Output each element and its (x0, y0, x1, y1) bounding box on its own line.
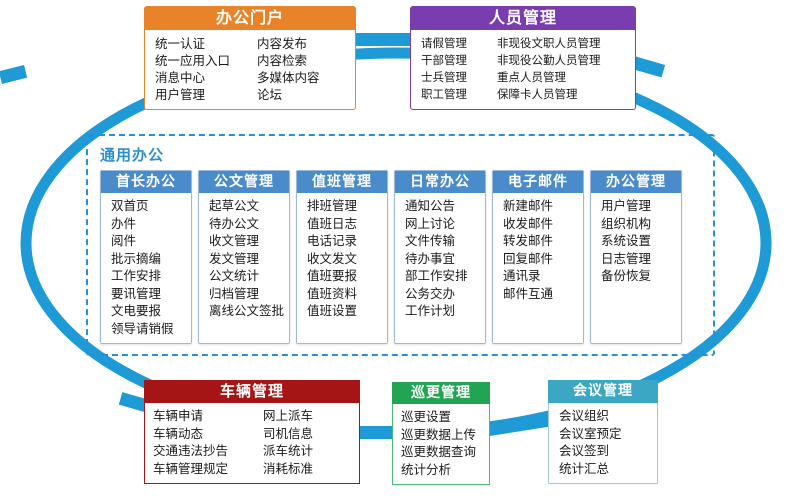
list-item[interactable]: 会议组织 (559, 407, 657, 425)
list-item[interactable]: 论坛 (257, 86, 320, 103)
connector-portal-to-personnel (348, 33, 414, 46)
card-meeting-management[interactable]: 会议管理 会议组织 会议室预定 会议签到 统计汇总 (548, 380, 658, 484)
list-item[interactable]: 值班资料 (307, 285, 387, 303)
list-item[interactable]: 重点人员管理 (497, 69, 601, 86)
list-item[interactable]: 收发邮件 (503, 215, 583, 233)
list-item[interactable]: 系统设置 (601, 232, 681, 250)
list-item[interactable]: 职工管理 (421, 86, 497, 103)
list-item[interactable]: 请假管理 (421, 35, 497, 52)
card-vehicle-management-body: 车辆申请 车辆动态 交通违法抄告 车辆管理规定 网上派车 司机信息 派车统计 消… (144, 403, 360, 484)
meeting-list: 会议组织 会议室预定 会议签到 统计汇总 (559, 407, 657, 477)
list-item[interactable]: 用户管理 (601, 197, 681, 215)
office-management-list: 用户管理 组织机构 系统设置 日志管理 备份恢复 (601, 197, 681, 285)
list-item[interactable]: 回复邮件 (503, 250, 583, 268)
patrol-list: 巡更设置 巡更数据上传 巡更数据查询 统计分析 (401, 408, 489, 478)
list-item[interactable]: 车辆申请 (153, 407, 263, 425)
card-office-portal[interactable]: 办公门户 统一认证 统一应用入口 消息中心 用户管理 内容发布 内容检索 多媒体… (144, 6, 356, 110)
list-item[interactable]: 会议室预定 (559, 425, 657, 443)
personnel-column-2: 非现役文职人员管理 非现役公勤人员管理 重点人员管理 保障卡人员管理 (497, 35, 601, 103)
list-item[interactable]: 内容发布 (257, 35, 320, 52)
card-office-portal-title: 办公门户 (144, 6, 356, 30)
list-item[interactable]: 巡更数据查询 (401, 443, 489, 461)
list-item[interactable]: 用户管理 (155, 86, 257, 103)
card-vehicle-management-title: 车辆管理 (144, 380, 360, 403)
card-office-management-body: 用户管理 组织机构 系统设置 日志管理 备份恢复 (591, 193, 681, 343)
list-item[interactable]: 阅件 (111, 232, 191, 250)
list-item[interactable]: 统一应用入口 (155, 52, 257, 69)
list-item[interactable]: 内容检索 (257, 52, 320, 69)
list-item[interactable]: 会议签到 (559, 442, 657, 460)
list-item[interactable]: 要讯管理 (111, 285, 191, 303)
list-item[interactable]: 起草公文 (209, 197, 289, 215)
list-item[interactable]: 士兵管理 (421, 69, 497, 86)
card-daily-office-body: 通知公告 网上讨论 文件传输 待办事宜 部工作安排 公务交办 工作计划 (395, 193, 485, 343)
card-office-portal-body: 统一认证 统一应用入口 消息中心 用户管理 内容发布 内容检索 多媒体内容 论坛 (144, 30, 356, 110)
list-item[interactable]: 车辆动态 (153, 425, 263, 443)
card-daily-office[interactable]: 日常办公 通知公告 网上讨论 文件传输 待办事宜 部工作安排 公务交办 工作计划 (394, 170, 486, 344)
list-item[interactable]: 日志管理 (601, 250, 681, 268)
general-office-label: 通用办公 (100, 144, 164, 165)
list-item[interactable]: 备份恢复 (601, 267, 681, 285)
card-daily-office-title: 日常办公 (395, 171, 485, 193)
list-item[interactable]: 工作计划 (405, 302, 485, 320)
list-item[interactable]: 统计汇总 (559, 460, 657, 478)
personnel-column-1: 请假管理 干部管理 士兵管理 职工管理 (421, 35, 497, 103)
list-item[interactable]: 组织机构 (601, 215, 681, 233)
list-item[interactable]: 批示摘编 (111, 250, 191, 268)
card-chief-office-body: 双首页 办件 阅件 批示摘编 工作安排 要讯管理 文电要报 领导请销假 (101, 193, 191, 343)
list-item[interactable]: 发文管理 (209, 250, 289, 268)
list-item[interactable]: 网上派车 (263, 407, 313, 425)
list-item[interactable]: 消耗标准 (263, 460, 313, 478)
list-item[interactable]: 收文管理 (209, 232, 289, 250)
card-duty-management-title: 值班管理 (297, 171, 387, 193)
list-item[interactable]: 派车统计 (263, 442, 313, 460)
list-item[interactable]: 车辆管理规定 (153, 460, 263, 478)
list-item[interactable]: 干部管理 (421, 52, 497, 69)
list-item[interactable]: 值班设置 (307, 302, 387, 320)
card-meeting-management-title: 会议管理 (548, 380, 658, 403)
list-item[interactable]: 文件传输 (405, 232, 485, 250)
card-duty-management-body: 排班管理 值班日志 电话记录 收文发文 值班要报 值班资料 值班设置 (297, 193, 387, 343)
card-patrol-management-body: 巡更设置 巡更数据上传 巡更数据查询 统计分析 (392, 404, 490, 485)
list-item[interactable]: 文电要报 (111, 302, 191, 320)
list-item[interactable]: 保障卡人员管理 (497, 86, 601, 103)
card-email-body: 新建邮件 收发邮件 转发邮件 回复邮件 通讯录 邮件互通 (493, 193, 583, 343)
card-vehicle-management[interactable]: 车辆管理 车辆申请 车辆动态 交通违法抄告 车辆管理规定 网上派车 司机信息 派… (144, 380, 360, 484)
list-item[interactable]: 统一认证 (155, 35, 257, 52)
list-item[interactable]: 公文统计 (209, 267, 289, 285)
list-item[interactable]: 巡更数据上传 (401, 426, 489, 444)
card-document-management[interactable]: 公文管理 起草公文 待办公文 收文管理 发文管理 公文统计 归档管理 离线公文签… (198, 170, 290, 344)
list-item[interactable]: 非现役文职人员管理 (497, 35, 601, 52)
list-item[interactable]: 通讯录 (503, 267, 583, 285)
card-personnel-management[interactable]: 人员管理 请假管理 干部管理 士兵管理 职工管理 非现役文职人员管理 非现役公勤… (410, 6, 636, 110)
card-email[interactable]: 电子邮件 新建邮件 收发邮件 转发邮件 回复邮件 通讯录 邮件互通 (492, 170, 584, 344)
card-office-management[interactable]: 办公管理 用户管理 组织机构 系统设置 日志管理 备份恢复 (590, 170, 682, 344)
document-management-list: 起草公文 待办公文 收文管理 发文管理 公文统计 归档管理 离线公文签批 (209, 197, 289, 320)
list-item[interactable]: 排班管理 (307, 197, 387, 215)
list-item[interactable]: 非现役公勤人员管理 (497, 52, 601, 69)
list-item[interactable]: 通知公告 (405, 197, 485, 215)
card-patrol-management[interactable]: 巡更管理 巡更设置 巡更数据上传 巡更数据查询 统计分析 (392, 382, 490, 485)
chief-office-list: 双首页 办件 阅件 批示摘编 工作安排 要讯管理 文电要报 领导请销假 (111, 197, 191, 337)
list-item[interactable]: 统计分析 (401, 461, 489, 479)
daily-office-list: 通知公告 网上讨论 文件传输 待办事宜 部工作安排 公务交办 工作计划 (405, 197, 485, 320)
card-personnel-management-body: 请假管理 干部管理 士兵管理 职工管理 非现役文职人员管理 非现役公勤人员管理 … (410, 30, 636, 110)
list-item[interactable]: 交通违法抄告 (153, 442, 263, 460)
diagram-canvas: 办公门户 统一认证 统一应用入口 消息中心 用户管理 内容发布 内容检索 多媒体… (0, 0, 790, 500)
card-email-title: 电子邮件 (493, 171, 583, 193)
card-personnel-management-title: 人员管理 (410, 6, 636, 30)
office-portal-column-1: 统一认证 统一应用入口 消息中心 用户管理 (155, 35, 257, 103)
list-item[interactable]: 新建邮件 (503, 197, 583, 215)
card-chief-office[interactable]: 首长办公 双首页 办件 阅件 批示摘编 工作安排 要讯管理 文电要报 领导请销假 (100, 170, 192, 344)
list-item[interactable]: 邮件互通 (503, 285, 583, 303)
card-duty-management[interactable]: 值班管理 排班管理 值班日志 电话记录 收文发文 值班要报 值班资料 值班设置 (296, 170, 388, 344)
list-item[interactable]: 离线公文签批 (209, 302, 289, 320)
list-item[interactable]: 值班要报 (307, 267, 387, 285)
card-office-management-title: 办公管理 (591, 171, 681, 193)
card-chief-office-title: 首长办公 (101, 171, 191, 193)
list-item[interactable]: 司机信息 (263, 425, 313, 443)
list-item[interactable]: 巡更设置 (401, 408, 489, 426)
list-item[interactable]: 值班日志 (307, 215, 387, 233)
list-item[interactable]: 办件 (111, 215, 191, 233)
list-item[interactable]: 公务交办 (405, 285, 485, 303)
office-portal-column-2: 内容发布 内容检索 多媒体内容 论坛 (257, 35, 320, 103)
card-patrol-management-title: 巡更管理 (392, 382, 490, 404)
list-item[interactable]: 双首页 (111, 197, 191, 215)
list-item[interactable]: 网上讨论 (405, 215, 485, 233)
list-item[interactable]: 转发邮件 (503, 232, 583, 250)
list-item[interactable]: 部工作安排 (405, 267, 485, 285)
card-document-management-body: 起草公文 待办公文 收文管理 发文管理 公文统计 归档管理 离线公文签批 (199, 193, 289, 343)
card-document-management-title: 公文管理 (199, 171, 289, 193)
email-list: 新建邮件 收发邮件 转发邮件 回复邮件 通讯录 邮件互通 (503, 197, 583, 302)
list-item[interactable]: 电话记录 (307, 232, 387, 250)
list-item[interactable]: 待办事宜 (405, 250, 485, 268)
list-item[interactable]: 领导请销假 (111, 320, 191, 338)
list-item[interactable]: 多媒体内容 (257, 69, 320, 86)
list-item[interactable]: 收文发文 (307, 250, 387, 268)
list-item[interactable]: 归档管理 (209, 285, 289, 303)
vehicle-column-1: 车辆申请 车辆动态 交通违法抄告 车辆管理规定 (153, 407, 263, 477)
list-item[interactable]: 工作安排 (111, 267, 191, 285)
card-meeting-management-body: 会议组织 会议室预定 会议签到 统计汇总 (548, 403, 658, 484)
duty-management-list: 排班管理 值班日志 电话记录 收文发文 值班要报 值班资料 值班设置 (307, 197, 387, 320)
list-item[interactable]: 消息中心 (155, 69, 257, 86)
list-item[interactable]: 待办公文 (209, 215, 289, 233)
vehicle-column-2: 网上派车 司机信息 派车统计 消耗标准 (263, 407, 313, 477)
